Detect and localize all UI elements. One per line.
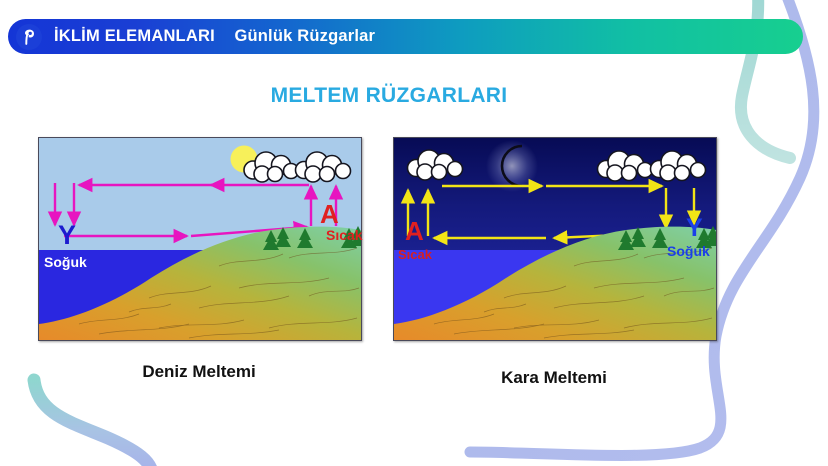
kara-meltemi-illustration — [394, 138, 716, 340]
label-sea-pressure-night: A — [405, 218, 424, 244]
header-title-main: İKLİM ELEMANLARI — [54, 27, 215, 45]
crescent-moon-icon — [486, 140, 538, 192]
header-title: İKLİM ELEMANLARI Günlük Rüzgarlar — [54, 27, 375, 46]
diagram-deniz-meltemi — [38, 137, 362, 341]
label-land-pressure-night: Y — [686, 216, 703, 241]
header-ribbon: İKLİM ELEMANLARI Günlük Rüzgarlar — [8, 19, 803, 54]
slide-canvas: İKLİM ELEMANLARI Günlük Rüzgarlar MELTEM… — [0, 0, 828, 466]
label-land-temp-day: Sıcak — [326, 228, 363, 242]
diagram-kara-meltemi — [393, 137, 717, 341]
page-title: MELTEM RÜZGARLARI — [0, 84, 778, 108]
label-sea-pressure-day: Y — [58, 222, 76, 249]
label-land-temp-night: Soğuk — [667, 244, 710, 258]
header-title-sub: Günlük Rüzgarlar — [234, 27, 375, 45]
label-sea-temp-night: Sıcak — [398, 248, 432, 261]
label-sea-temp-day: Soğuk — [44, 255, 87, 269]
caption-kara-meltemi: Kara Meltemi — [393, 368, 715, 388]
p-leaf-logo-icon — [16, 24, 42, 50]
label-land-pressure-day: A — [320, 201, 339, 227]
deniz-meltemi-illustration — [39, 138, 361, 340]
caption-deniz-meltemi: Deniz Meltemi — [38, 362, 360, 382]
